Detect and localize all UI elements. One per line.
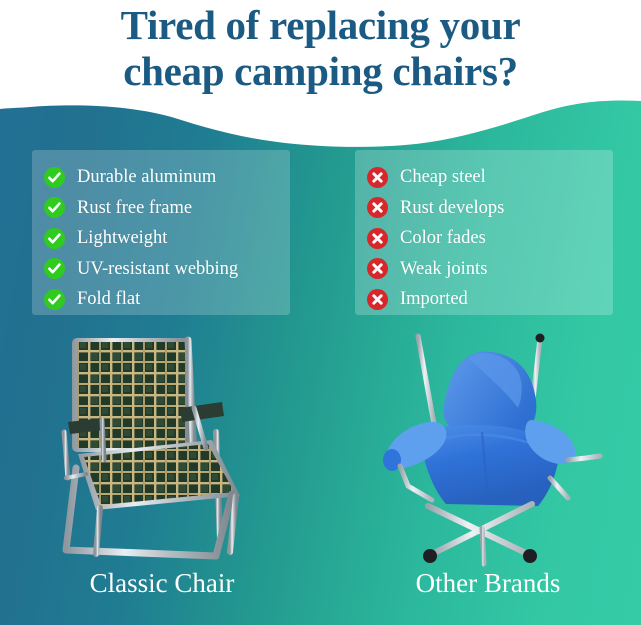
list-item: Durable aluminum [44, 162, 280, 192]
headline-line-1: Tired of replacing your [121, 2, 521, 48]
header-band: Tired of replacing your cheap camping ch… [0, 0, 641, 120]
list-item: Fold flat [44, 284, 280, 314]
list-item-label: Rust develops [400, 198, 504, 218]
classic-chair-image [44, 328, 284, 568]
pros-panel: Durable aluminum Rust free frame Lightwe… [32, 150, 290, 315]
comparison-infographic: Tired of replacing your cheap camping ch… [0, 0, 641, 625]
x-circle-icon [367, 258, 388, 279]
list-item: Weak joints [367, 254, 603, 284]
check-circle-icon [44, 258, 65, 279]
other-brands-caption: Other Brands [343, 566, 633, 600]
list-item: Imported [367, 284, 603, 314]
x-circle-icon [367, 167, 388, 188]
list-item-label: Color fades [400, 228, 486, 248]
classic-chair-caption: Classic Chair [17, 566, 307, 600]
other-brands-chair-image [372, 328, 612, 568]
headline-line-2: cheap camping chairs? [0, 48, 641, 94]
cons-list: Cheap steel Rust develops Color fades We… [367, 162, 603, 314]
list-item-label: Durable aluminum [77, 167, 216, 187]
x-circle-icon [367, 197, 388, 218]
list-item: Cheap steel [367, 162, 603, 192]
list-item-label: Cheap steel [400, 167, 486, 187]
list-item: Rust develops [367, 193, 603, 223]
list-item-label: Fold flat [77, 289, 140, 309]
list-item-label: Imported [400, 289, 468, 309]
check-circle-icon [44, 167, 65, 188]
list-item: Rust free frame [44, 193, 280, 223]
check-circle-icon [44, 228, 65, 249]
list-item: UV-resistant webbing [44, 254, 280, 284]
x-circle-icon [367, 289, 388, 310]
list-item-label: UV-resistant webbing [77, 259, 238, 279]
list-item: Color fades [367, 223, 603, 253]
pros-list: Durable aluminum Rust free frame Lightwe… [44, 162, 280, 314]
check-circle-icon [44, 197, 65, 218]
list-item: Lightweight [44, 223, 280, 253]
page-title: Tired of replacing your cheap camping ch… [0, 2, 641, 94]
cons-panel: Cheap steel Rust develops Color fades We… [355, 150, 613, 315]
list-item-label: Rust free frame [77, 198, 192, 218]
list-item-label: Weak joints [400, 259, 487, 279]
x-circle-icon [367, 228, 388, 249]
list-item-label: Lightweight [77, 228, 167, 248]
check-circle-icon [44, 289, 65, 310]
